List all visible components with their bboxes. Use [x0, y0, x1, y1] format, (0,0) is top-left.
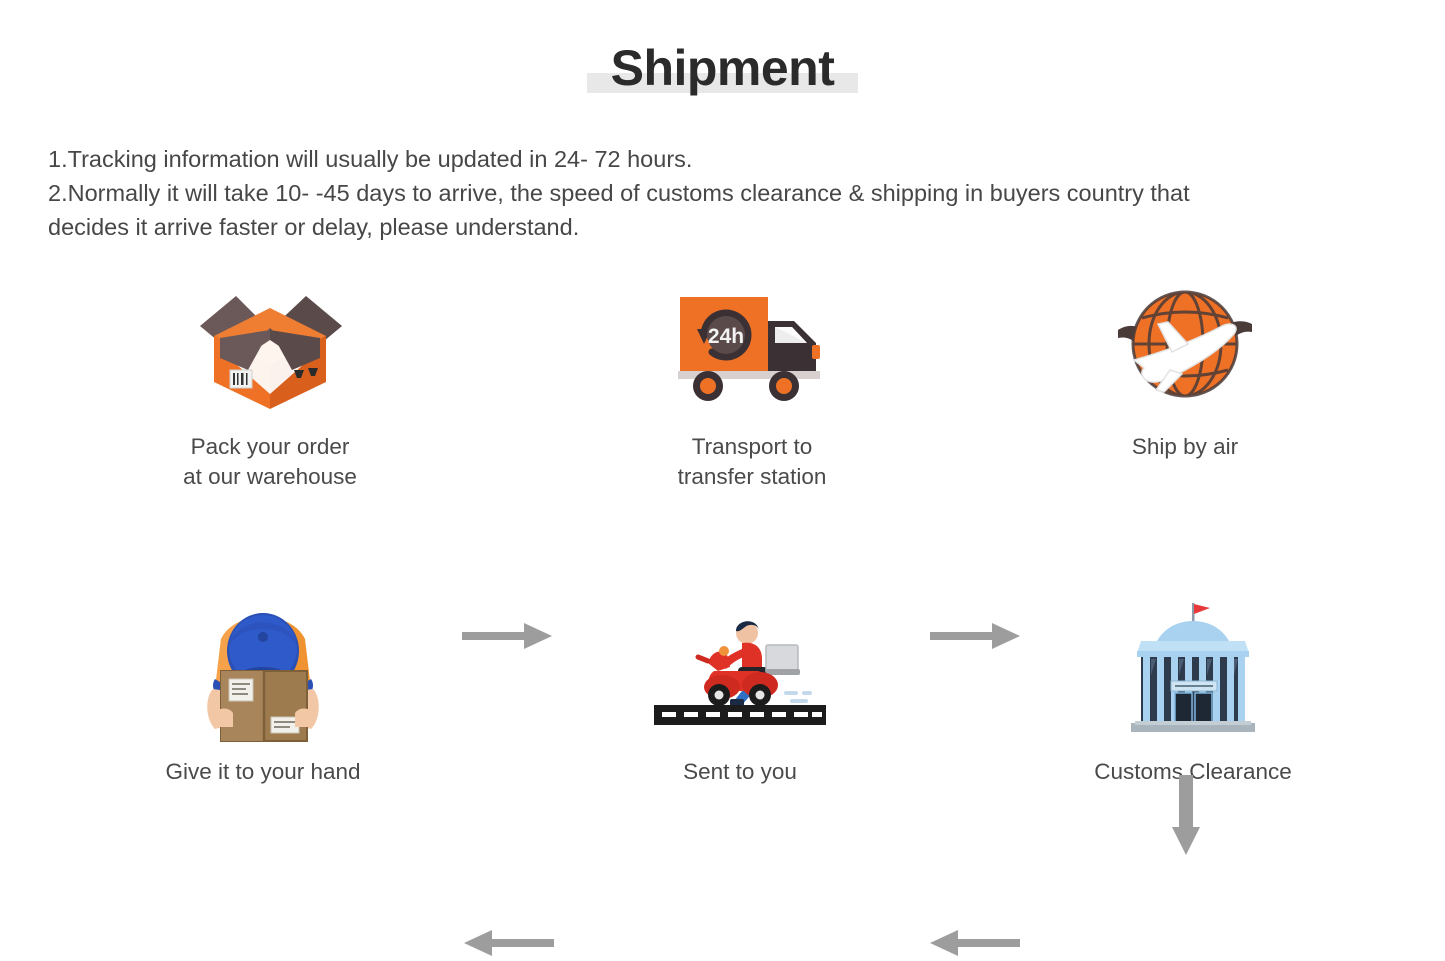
delivery-truck-24h-icon: 24h: [602, 270, 902, 420]
title-text: Shipment: [611, 42, 835, 95]
flow-step-sent-caption: Sent to you: [590, 757, 890, 787]
flow-step-sent-to-you: Sent to you: [590, 595, 890, 787]
truck-24h-badge-text: 24h: [708, 325, 744, 348]
shipping-note-line-2: 2.Normally it will take 10- -45 days to …: [48, 176, 1393, 210]
arrow-left-icon-2: [928, 925, 1020, 961]
caption-line-2: at our warehouse: [120, 462, 420, 492]
caption-line-1: Give it to your hand: [113, 757, 413, 787]
caption-line-1: Ship by air: [1035, 432, 1335, 462]
open-box-icon: [120, 270, 420, 420]
arrow-down-icon: [1168, 775, 1204, 857]
page-title: Shipment: [0, 42, 1445, 95]
flow-step-give-to-hand-caption: Give it to your hand: [113, 757, 413, 787]
globe-airplane-icon: [1035, 270, 1335, 420]
caption-line-1: Sent to you: [590, 757, 890, 787]
shipping-note-line-1: 1.Tracking information will usually be u…: [48, 142, 1393, 176]
caption-line-2: transfer station: [602, 462, 902, 492]
flow-step-pack-caption: Pack your order at our warehouse: [120, 432, 420, 492]
flow-step-customs-clearance: Customs Clearance: [1043, 595, 1343, 787]
flow-step-transport: 24h Transport to transfer station: [602, 270, 902, 492]
arrow-right-icon-2: [930, 618, 1022, 654]
caption-line-1: Pack your order: [120, 432, 420, 462]
shipment-flow-diagram: Pack your order at our warehouse 24h: [0, 270, 1445, 836]
courier-holding-parcel-icon: [113, 595, 413, 745]
caption-line-1: Transport to: [602, 432, 902, 462]
flow-step-give-to-hand: Give it to your hand: [113, 595, 413, 787]
shipping-notes: 1.Tracking information will usually be u…: [48, 142, 1393, 244]
shipping-note-line-3: decides it arrive faster or delay, pleas…: [48, 210, 1393, 244]
flow-step-pack: Pack your order at our warehouse: [120, 270, 420, 492]
customs-building-icon: [1043, 595, 1343, 745]
flow-step-ship-by-air: Ship by air: [1035, 270, 1335, 462]
arrow-right-icon-1: [462, 618, 554, 654]
scooter-courier-icon: [590, 595, 890, 745]
flow-step-transport-caption: Transport to transfer station: [602, 432, 902, 492]
flow-step-ship-by-air-caption: Ship by air: [1035, 432, 1335, 462]
arrow-left-icon-1: [462, 925, 554, 961]
